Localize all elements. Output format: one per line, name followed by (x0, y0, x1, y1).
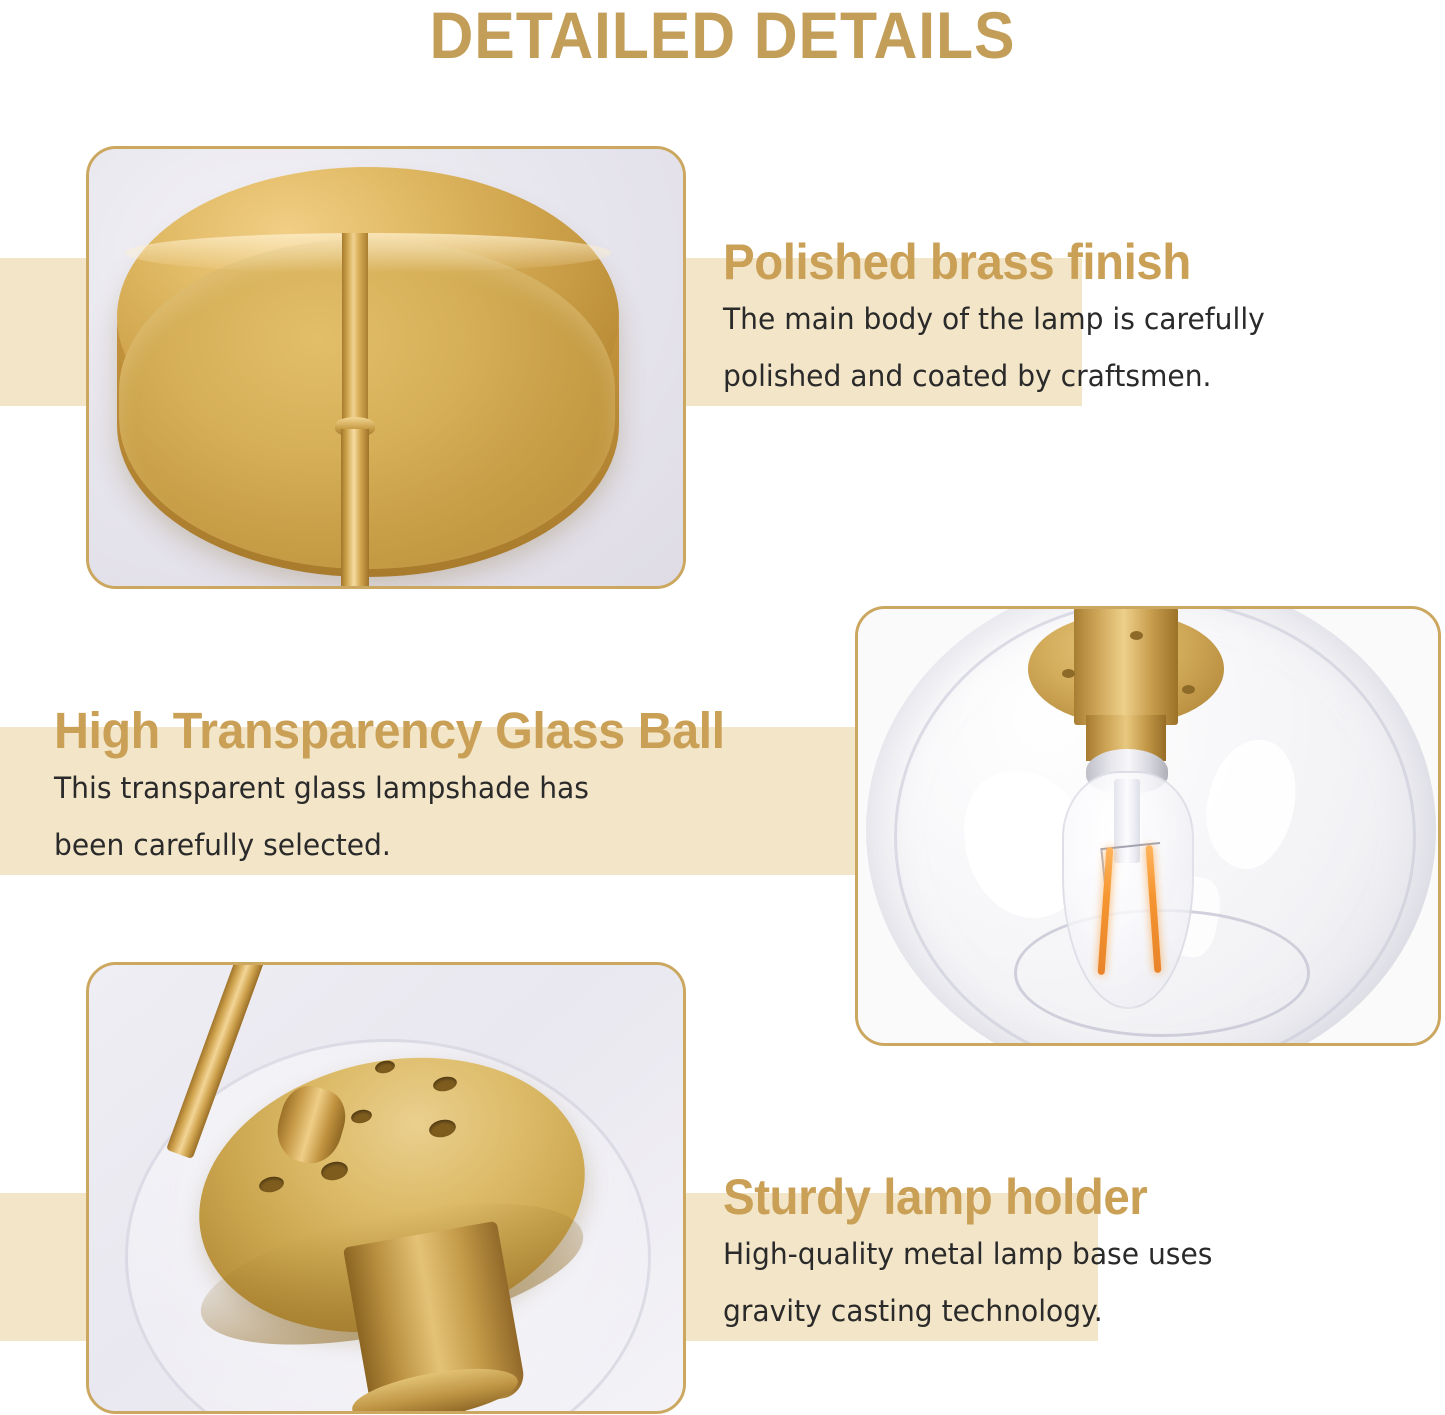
section-body-line-2: gravity casting technology. (723, 1283, 1402, 1340)
section-body-line-1: The main body of the lamp is carefully (723, 291, 1412, 348)
socket-screw-left (1062, 669, 1075, 678)
lamp-holder-photo (89, 965, 683, 1411)
section-heading: Sturdy lamp holder (723, 1168, 1388, 1226)
text-block-high-transparency-glass-ball: High Transparency Glass Ball This transp… (54, 702, 854, 874)
section-body-line-1: High-quality metal lamp base uses (723, 1226, 1402, 1283)
section-body-line-1: This transparent glass lampshade has (54, 760, 830, 817)
section-heading: High Transparency Glass Ball (54, 702, 814, 760)
canopy-stem-rod-lower (341, 429, 369, 586)
section-heading: Polished brass finish (723, 233, 1398, 291)
text-block-polished-brass-finish: Polished brass finish The main body of t… (723, 233, 1433, 405)
photo-panel-high-transparency-glass-ball (855, 606, 1441, 1046)
socket-screw-right (1182, 685, 1195, 694)
photo-panel-polished-brass-finish (86, 146, 686, 589)
page-title: DETAILED DETAILS (58, 0, 1387, 72)
glass-ball-photo (858, 609, 1438, 1043)
section-body-line-2: polished and coated by craftsmen. (723, 348, 1412, 405)
section-body-line-2: been carefully selected. (54, 817, 830, 874)
text-block-sturdy-lamp-holder: Sturdy lamp holder High-quality metal la… (723, 1168, 1423, 1340)
photo-panel-sturdy-lamp-holder (86, 962, 686, 1414)
socket-body (1074, 609, 1178, 725)
socket-screw-top (1130, 631, 1143, 640)
product-detail-infographic: DETAILED DETAILS (0, 0, 1445, 1415)
canopy-photo (89, 149, 683, 586)
canopy-rim-highlight (125, 233, 611, 273)
